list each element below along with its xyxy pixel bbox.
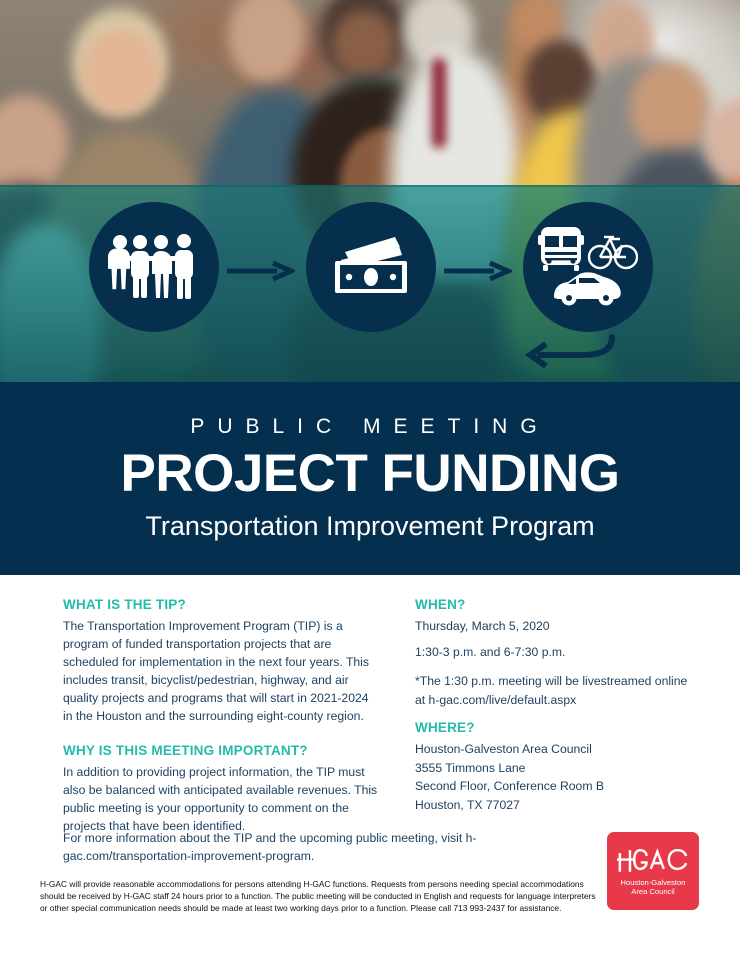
arrow-loop-back-left-icon [520, 333, 616, 374]
address-line-4: Houston, TX 77027 [415, 796, 715, 815]
heading-when: WHEN? [415, 597, 715, 612]
paragraph-why-important: In addition to providing project informa… [63, 763, 381, 835]
more-information-text: For more information about the TIP and t… [63, 830, 603, 865]
hgac-monogram-icon [617, 846, 689, 876]
livestream-note-line2: at h-gac.com/live/default.aspx [415, 691, 715, 710]
transit-bike-car-icon [523, 202, 653, 332]
flyer-page: PUBLIC MEETING PROJECT FUNDING Transport… [0, 0, 740, 958]
address-line-1: Houston-Galveston Area Council [415, 740, 715, 759]
money-icon [306, 202, 436, 332]
accommodations-disclaimer: H-GAC will provide reasonable accommodat… [40, 879, 600, 915]
page-subtitle: Transportation Improvement Program [0, 501, 740, 542]
address-line-2: 3555 Timmons Lane [415, 759, 715, 778]
bus-glyph [538, 227, 584, 271]
hgac-logo-text: Houston-Galveston Area Council [620, 879, 685, 897]
paragraph-what-is-the-tip: The Transportation Improvement Program (… [63, 617, 381, 725]
title-band: PUBLIC MEETING PROJECT FUNDING Transport… [0, 382, 740, 575]
address-line-3: Second Floor, Conference Room B [415, 777, 715, 796]
process-icon-row [0, 185, 740, 382]
right-column: WHEN? Thursday, March 5, 2020 1:30-3 p.m… [415, 597, 715, 814]
meeting-date: Thursday, March 5, 2020 [415, 617, 715, 636]
kicker-text: PUBLIC MEETING [0, 382, 740, 439]
hgac-logo-line2: Area Council [620, 888, 685, 897]
heading-what-is-the-tip: WHAT IS THE TIP? [63, 597, 381, 612]
heading-where: WHERE? [415, 720, 715, 735]
arrow-right-icon-2 [442, 260, 512, 287]
arrow-right-icon-1 [225, 260, 295, 287]
hgac-logo: Houston-Galveston Area Council [607, 832, 699, 910]
people-icon [89, 202, 219, 332]
left-column: WHAT IS THE TIP? The Transportation Impr… [63, 597, 381, 835]
meeting-times: 1:30-3 p.m. and 6-7:30 p.m. [415, 643, 715, 662]
hero-section [0, 0, 740, 382]
page-title: PROJECT FUNDING [0, 439, 740, 501]
livestream-note-line1: *The 1:30 p.m. meeting will be livestrea… [415, 672, 715, 691]
heading-why-important: WHY IS THIS MEETING IMPORTANT? [63, 743, 381, 758]
bicycle-glyph [589, 237, 637, 268]
